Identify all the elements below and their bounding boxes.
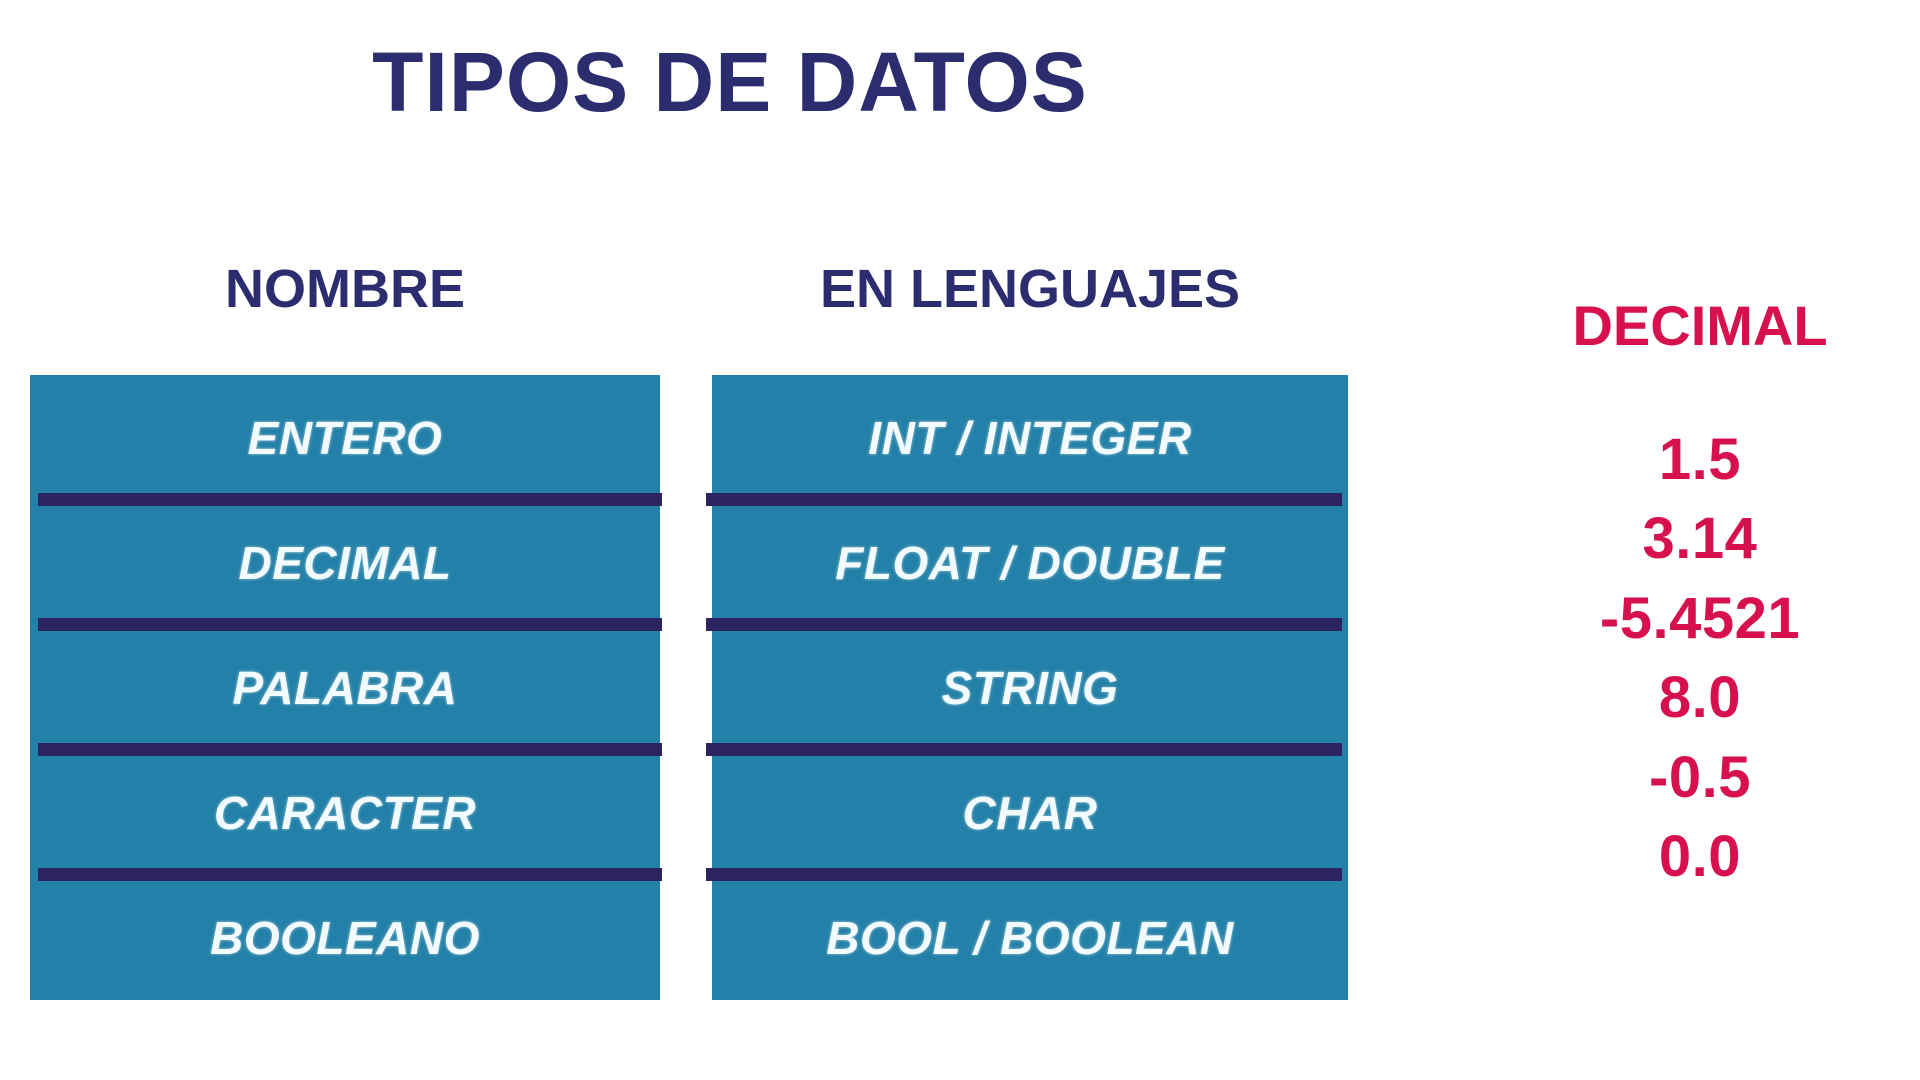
decimal-panel-heading: DECIMAL (1490, 298, 1910, 354)
table-column-en-lenguajes: INT / INTEGER FLOAT / DOUBLE STRING CHAR… (712, 375, 1348, 1000)
decimal-value-5: 0.0 (1659, 817, 1741, 896)
table-row: STRING (712, 625, 1348, 750)
cell-nombre-4: BOOLEANO (210, 911, 480, 965)
cell-lenguajes-1: FLOAT / DOUBLE (835, 536, 1224, 590)
table-row: INT / INTEGER (712, 375, 1348, 500)
cell-nombre-2: PALABRA (233, 661, 458, 715)
decimal-value-3: 8.0 (1659, 658, 1741, 737)
cell-lenguajes-2: STRING (942, 661, 1119, 715)
row-divider (706, 493, 1342, 506)
table-row: DECIMAL (30, 500, 660, 625)
row-divider (706, 618, 1342, 631)
decimal-value-0: 1.5 (1659, 420, 1741, 499)
row-divider (38, 868, 662, 881)
cell-lenguajes-4: BOOL / BOOLEAN (826, 911, 1233, 965)
slide-canvas: TIPOS DE DATOS NOMBRE EN LENGUAJES DECIM… (0, 0, 1920, 1080)
cell-lenguajes-0: INT / INTEGER (868, 411, 1191, 465)
table-row: CHAR (712, 750, 1348, 875)
table-row: BOOLEANO (30, 875, 660, 1000)
table-column-nombre: ENTERO DECIMAL PALABRA CARACTER BOOLEANO (30, 375, 660, 1000)
table-row: ENTERO (30, 375, 660, 500)
row-divider (38, 493, 662, 506)
decimal-value-4: -0.5 (1649, 738, 1751, 817)
cell-lenguajes-3: CHAR (963, 786, 1098, 840)
row-divider (38, 618, 662, 631)
decimal-value-1: 3.14 (1643, 499, 1758, 578)
column-header-nombre: NOMBRE (30, 262, 660, 316)
table-row: FLOAT / DOUBLE (712, 500, 1348, 625)
row-divider (706, 743, 1342, 756)
table-row: PALABRA (30, 625, 660, 750)
page-title: TIPOS DE DATOS (0, 38, 1460, 126)
cell-nombre-0: ENTERO (248, 411, 443, 465)
column-header-en-lenguajes: EN LENGUAJES (712, 262, 1348, 316)
row-divider (706, 868, 1342, 881)
table-row: CARACTER (30, 750, 660, 875)
decimal-value-list: 1.5 3.14 -5.4521 8.0 -0.5 0.0 (1490, 420, 1910, 897)
cell-nombre-1: DECIMAL (238, 536, 451, 590)
table-row: BOOL / BOOLEAN (712, 875, 1348, 1000)
cell-nombre-3: CARACTER (214, 786, 476, 840)
row-divider (38, 743, 662, 756)
decimal-value-2: -5.4521 (1600, 579, 1800, 658)
